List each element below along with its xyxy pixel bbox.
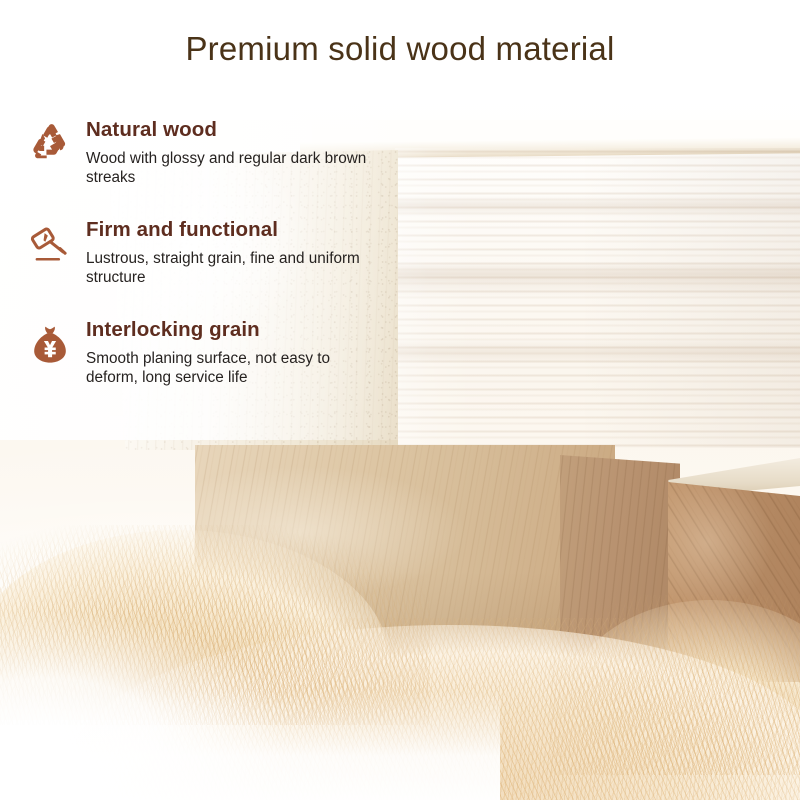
- feature-description: Wood with glossy and regular dark brown …: [86, 149, 386, 188]
- feature-text-block: Firm and functional Lustrous, straight g…: [86, 218, 434, 288]
- feature-item-firm-and-functional: Firm and functional Lustrous, straight g…: [14, 218, 434, 292]
- feature-title: Firm and functional: [86, 218, 434, 242]
- feature-title: Natural wood: [86, 118, 434, 142]
- feature-description: Smooth planing surface, not easy to defo…: [86, 349, 386, 388]
- poster-content: Premium solid wood material: [0, 0, 800, 800]
- money-bag-yen-icon: [14, 318, 86, 380]
- page-title: Premium solid wood material: [0, 30, 800, 68]
- feature-title: Interlocking grain: [86, 318, 434, 342]
- feature-item-natural-wood: Natural wood Wood with glossy and regula…: [14, 118, 434, 192]
- feature-item-interlocking-grain: Interlocking grain Smooth planing surfac…: [14, 318, 434, 392]
- feature-list: Natural wood Wood with glossy and regula…: [14, 118, 434, 418]
- hammer-icon: [14, 218, 86, 280]
- product-feature-poster: Premium solid wood material: [0, 0, 800, 800]
- feature-description: Lustrous, straight grain, fine and unifo…: [86, 249, 386, 288]
- recycle-icon: [14, 118, 86, 180]
- feature-text-block: Natural wood Wood with glossy and regula…: [86, 118, 434, 188]
- feature-text-block: Interlocking grain Smooth planing surfac…: [86, 318, 434, 388]
